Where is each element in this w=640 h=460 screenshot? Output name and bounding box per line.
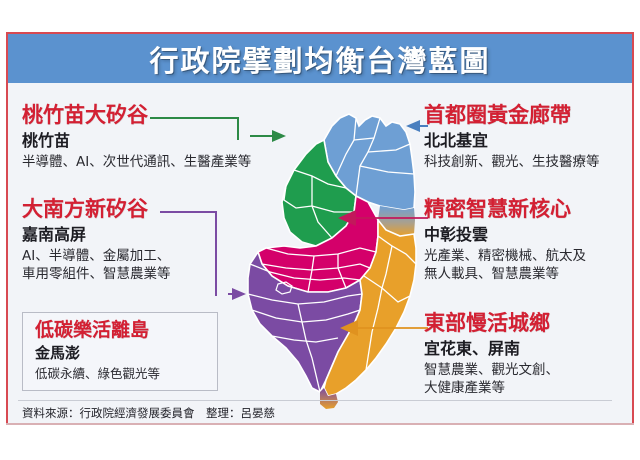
infographic-root: 行政院擘劃均衡台灣藍圖 [0, 0, 640, 460]
region-title-east: 東部慢活城鄉 [424, 312, 559, 336]
region-industries-core-line1: 光產業、精密機械、航太及 [424, 247, 586, 265]
region-industries-south-line2: 車用零組件、智慧農業等 [22, 265, 171, 283]
source-credit: 資料來源：行政院經濟發展委員會 整理：呂晏慈 [22, 405, 275, 421]
region-block-east: 東部慢活城鄉 宜花東、屏南 智慧農業、觀光文創、 大健康產業等 [424, 312, 559, 397]
footer-divider [18, 400, 612, 401]
region-subtitle-islands: 金馬澎 [35, 344, 207, 363]
region-subtitle-taozhumiao: 桃竹苗 [22, 131, 251, 151]
region-title-core: 精密智慧新核心 [424, 198, 586, 222]
region-block-capital: 首都圈黃金廊帶 北北基宜 科技創新、觀光、生技醫療等 [424, 104, 600, 171]
region-industries-east-line1: 智慧農業、觀光文創、 [424, 361, 559, 379]
region-title-south: 大南方新矽谷 [22, 198, 171, 222]
region-industries-taozhumiao: 半導體、AI、次世代通訊、生醫產業等 [22, 153, 251, 171]
region-block-taozhumiao: 桃竹苗大矽谷 桃竹苗 半導體、AI、次世代通訊、生醫產業等 [22, 104, 251, 171]
bottom-accent-strip [6, 423, 634, 425]
region-industries-capital: 科技創新、觀光、生技醫療等 [424, 153, 600, 171]
region-title-taozhumiao: 桃竹苗大矽谷 [22, 104, 251, 128]
page-title: 行政院擘劃均衡台灣藍圖 [149, 38, 490, 80]
region-industries-core-line2: 無人載具、智慧農業等 [424, 265, 586, 283]
region-subtitle-core: 中彰投雲 [424, 225, 586, 245]
region-subtitle-capital: 北北基宜 [424, 131, 600, 151]
region-subtitle-south: 嘉南高屏 [22, 225, 171, 245]
region-industries-islands: 低碳永續、綠色觀光等 [35, 365, 207, 382]
region-industries-east-line2: 大健康產業等 [424, 379, 559, 397]
region-industries-south-line1: AI、半導體、金屬加工、 [22, 247, 171, 265]
region-block-core: 精密智慧新核心 中彰投雲 光產業、精密機械、航太及 無人載具、智慧農業等 [424, 198, 586, 283]
region-subtitle-east: 宜花東、屏南 [424, 339, 559, 359]
connector-south [160, 206, 250, 302]
region-block-islands: 低碳樂活離島 金馬澎 低碳永續、綠色觀光等 [22, 312, 218, 391]
region-title-islands: 低碳樂活離島 [35, 320, 207, 341]
region-title-capital: 首都圈黃金廊帶 [424, 104, 600, 128]
region-block-south: 大南方新矽谷 嘉南高屏 AI、半導體、金屬加工、 車用零組件、智慧農業等 [22, 198, 171, 283]
header-title-bar: 行政院擘劃均衡台灣藍圖 [8, 34, 632, 83]
